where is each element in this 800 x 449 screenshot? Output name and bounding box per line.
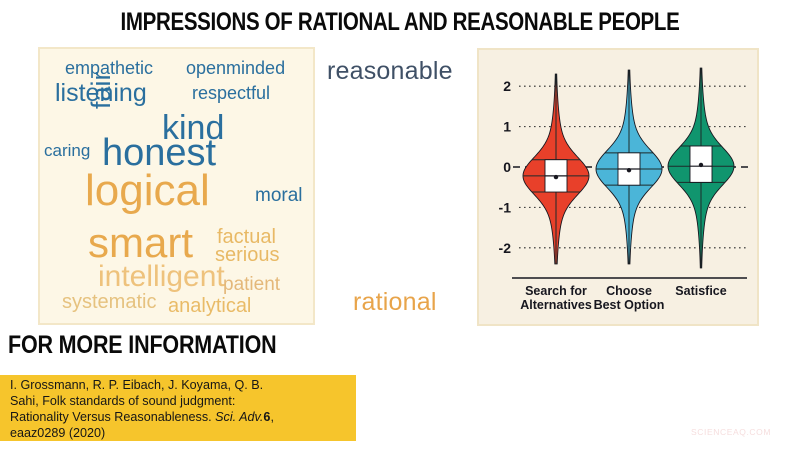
violin-plot-panel: 2 1 0 -1 -2 Search for Alternatives Choo… <box>477 48 759 326</box>
violin-shapes-group <box>521 68 736 268</box>
svg-text:0: 0 <box>503 159 511 175</box>
watermark: SCIENCEAQ.COM <box>691 427 771 437</box>
svg-text:Satisfice: Satisfice <box>675 284 726 298</box>
svg-text:Choose: Choose <box>606 284 652 298</box>
violin-2 <box>594 70 664 264</box>
wordcloud-word-openminded: openminded <box>186 59 285 77</box>
svg-text:Search for: Search for <box>525 284 587 298</box>
wordcloud-word-analytical: analytical <box>168 296 251 316</box>
violin-plot-svg: 2 1 0 -1 -2 Search for Alternatives Choo… <box>479 50 757 324</box>
violin-1 <box>521 74 591 264</box>
violin-3 <box>666 68 736 268</box>
wordcloud-word-respectful: respectful <box>192 84 270 102</box>
y-axis-tick-labels: 2 1 0 -1 -2 <box>499 78 512 256</box>
mean-marker <box>554 175 558 179</box>
wordcloud-panel: empathetic openminded listening respectf… <box>38 47 315 325</box>
wordcloud-word-smart: smart <box>88 222 193 264</box>
slide-root: IMPRESSIONS OF RATIONAL AND REASONABLE P… <box>0 0 800 449</box>
wordcloud-word-caring: caring <box>44 142 90 159</box>
citation-line-2: Sahi, Folk standards of sound judgment: <box>10 394 235 408</box>
wordcloud-word-patient: patient <box>223 275 280 294</box>
svg-text:Best Option: Best Option <box>594 298 665 312</box>
wordcloud-word-fair: fair <box>88 49 115 109</box>
citation-journal: Sci. Adv. <box>215 410 263 424</box>
label-rational: rational <box>353 288 437 317</box>
wordcloud-word-logical: logical <box>85 169 210 213</box>
wordcloud-word-moral: moral <box>255 186 303 205</box>
citation-line-3: Rationality Versus Reasonableness. <box>10 410 212 424</box>
mean-marker <box>627 168 631 172</box>
mean-marker <box>699 163 703 167</box>
citation-volume: 6 <box>263 410 270 424</box>
svg-text:2: 2 <box>503 78 511 94</box>
svg-text:Alternatives: Alternatives <box>520 298 592 312</box>
x-axis-tick-labels: Search for Alternatives Choose Best Opti… <box>520 284 727 312</box>
svg-text:-1: -1 <box>499 199 512 215</box>
citation-line-1: I. Grossmann, R. P. Eibach, J. Koyama, Q… <box>10 378 263 392</box>
for-more-information-heading: FOR MORE INFORMATION <box>8 331 276 360</box>
wordcloud-word-intelligent: intelligent <box>98 262 225 292</box>
label-reasonable: reasonable <box>327 57 453 86</box>
citation-text: I. Grossmann, R. P. Eibach, J. Koyama, Q… <box>10 377 350 441</box>
page-title: IMPRESSIONS OF RATIONAL AND REASONABLE P… <box>72 8 728 37</box>
citation-line-4: eaaz0289 (2020) <box>10 426 105 440</box>
svg-text:1: 1 <box>503 119 511 135</box>
wordcloud-word-systematic: systematic <box>62 292 156 312</box>
svg-text:-2: -2 <box>499 240 512 256</box>
